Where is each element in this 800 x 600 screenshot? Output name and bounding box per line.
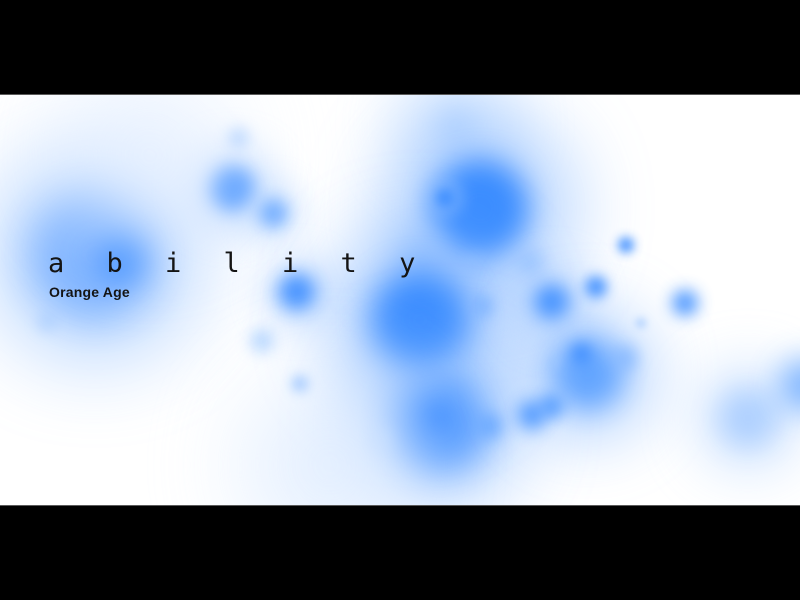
bubble-right-big: [553, 339, 623, 409]
letterbox-bar-top: [0, 0, 800, 95]
bubble-mid-left-small: [259, 199, 287, 227]
subtitle: Orange Age: [49, 285, 428, 299]
bokeh-artwork: [0, 95, 800, 505]
bubble-center-dot-a: [471, 295, 493, 317]
bubble-small-a: [251, 330, 273, 352]
bubble-top-faint-halo: [397, 95, 513, 183]
bubble-bottom-core: [424, 405, 448, 429]
video-frame: a b i l i t y Orange Age: [0, 0, 800, 600]
bubble-right-tiny: [636, 318, 646, 328]
bubble-far-right-halo: [696, 366, 800, 470]
title-block: a b i l i t y Orange Age: [48, 250, 428, 299]
bubble-ring-core: [436, 189, 454, 207]
bubble-right-low-a: [540, 394, 564, 418]
page-title: a b i l i t y: [48, 250, 428, 277]
bubble-right-sat: [613, 346, 637, 370]
bubble-right-halo-a: [516, 266, 588, 338]
bubble-far-right: [720, 390, 776, 446]
bubble-wash-top-left: [60, 95, 240, 245]
bubble-top-big: [432, 160, 528, 256]
bubble-right-big-core: [571, 343, 591, 363]
bubble-bottom-dot-b: [478, 414, 502, 438]
bubble-wash-bottom-left: [240, 375, 420, 505]
bubble-upper-dot: [228, 128, 248, 148]
bubble-top-faint-core: [439, 109, 471, 141]
bubble-bottom-big-halo: [360, 345, 520, 505]
bubble-right-a: [535, 285, 569, 319]
bubble-right-sat-tiny: [549, 358, 559, 368]
bubble-right-b: [585, 276, 607, 298]
bubble-left-tiny: [38, 313, 56, 331]
bubble-right-c: [672, 290, 698, 316]
bubble-ring-outer: [425, 178, 465, 218]
bubble-mid-left-halo: [192, 148, 272, 228]
bubble-right-d: [618, 237, 634, 253]
bubble-right-big-halo: [522, 308, 654, 440]
bubble-center-dot-b: [462, 255, 482, 275]
bubble-right-low-b: [518, 401, 546, 429]
letterbox-edge-bottom: [0, 505, 800, 506]
bubble-mid-left: [210, 166, 254, 210]
bubble-top-right-soft: [518, 250, 544, 276]
bubble-center-dot-c: [440, 374, 466, 400]
bubble-far-right-edge: [780, 359, 800, 411]
bubble-bottom-big: [394, 379, 486, 471]
bubble-small-b: [292, 376, 308, 392]
letterbox-bar-bottom: [0, 505, 800, 600]
bubble-bottom-dot-a: [370, 430, 390, 450]
letterbox-edge-top: [0, 94, 800, 95]
bubble-mid-left-small-halo: [245, 185, 301, 241]
